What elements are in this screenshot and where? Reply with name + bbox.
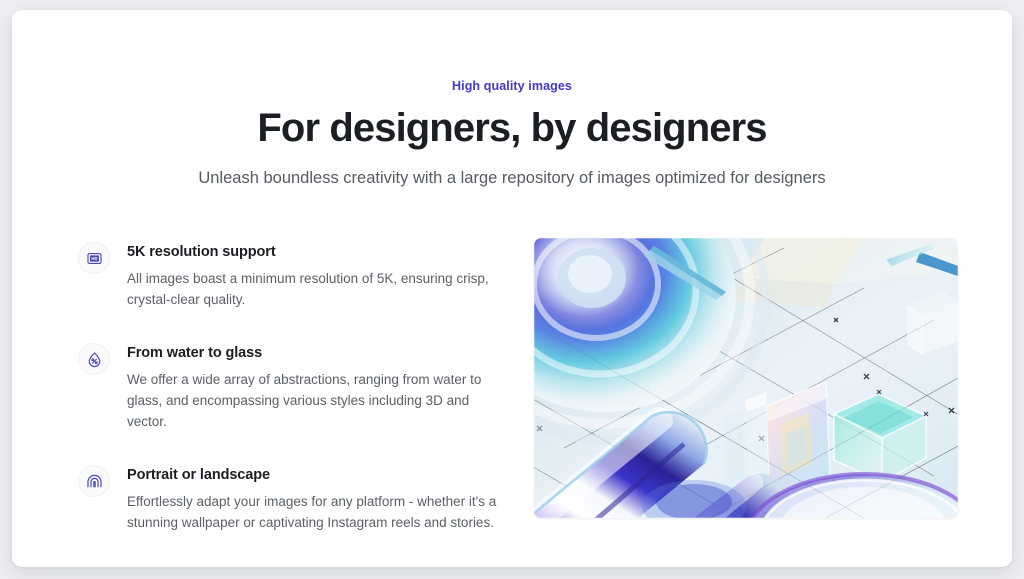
feature-description: We offer a wide array of abstractions, r… [127, 370, 499, 433]
feature-body: 5K resolution support All images boast a… [127, 241, 523, 311]
feature-body: From water to glass We offer a wide arra… [127, 342, 523, 433]
hero-header: High quality images For designers, by de… [12, 10, 1012, 190]
hero-image-artwork [534, 238, 958, 518]
page-title: For designers, by designers [12, 106, 1012, 151]
feature-list: HD 5K resolution support All images boas… [78, 238, 523, 534]
feature-description: Effortlessly adapt your images for any p… [127, 492, 499, 534]
page-card: High quality images For designers, by de… [12, 10, 1012, 567]
feature-title: 5K resolution support [127, 243, 523, 261]
feature-item: HD 5K resolution support All images boas… [78, 241, 523, 311]
hero-image [534, 238, 958, 518]
feature-title: From water to glass [127, 344, 523, 362]
feature-item: Portrait or landscape Effortlessly adapt… [78, 464, 523, 534]
rainbow-arch-icon [78, 465, 110, 497]
feature-title: Portrait or landscape [127, 466, 523, 484]
feature-body: Portrait or landscape Effortlessly adapt… [127, 464, 523, 534]
media-column [523, 238, 958, 518]
feature-description: All images boast a minimum resolution of… [127, 269, 499, 311]
water-drop-icon [78, 343, 110, 375]
hd-badge-icon: HD [78, 242, 110, 274]
hero-subtitle: Unleash boundless creativity with a larg… [12, 167, 1012, 190]
content-row: HD 5K resolution support All images boas… [12, 238, 1012, 534]
feature-item: From water to glass We offer a wide arra… [78, 342, 523, 433]
hero-eyebrow: High quality images [12, 78, 1012, 94]
svg-text:HD: HD [91, 256, 97, 261]
